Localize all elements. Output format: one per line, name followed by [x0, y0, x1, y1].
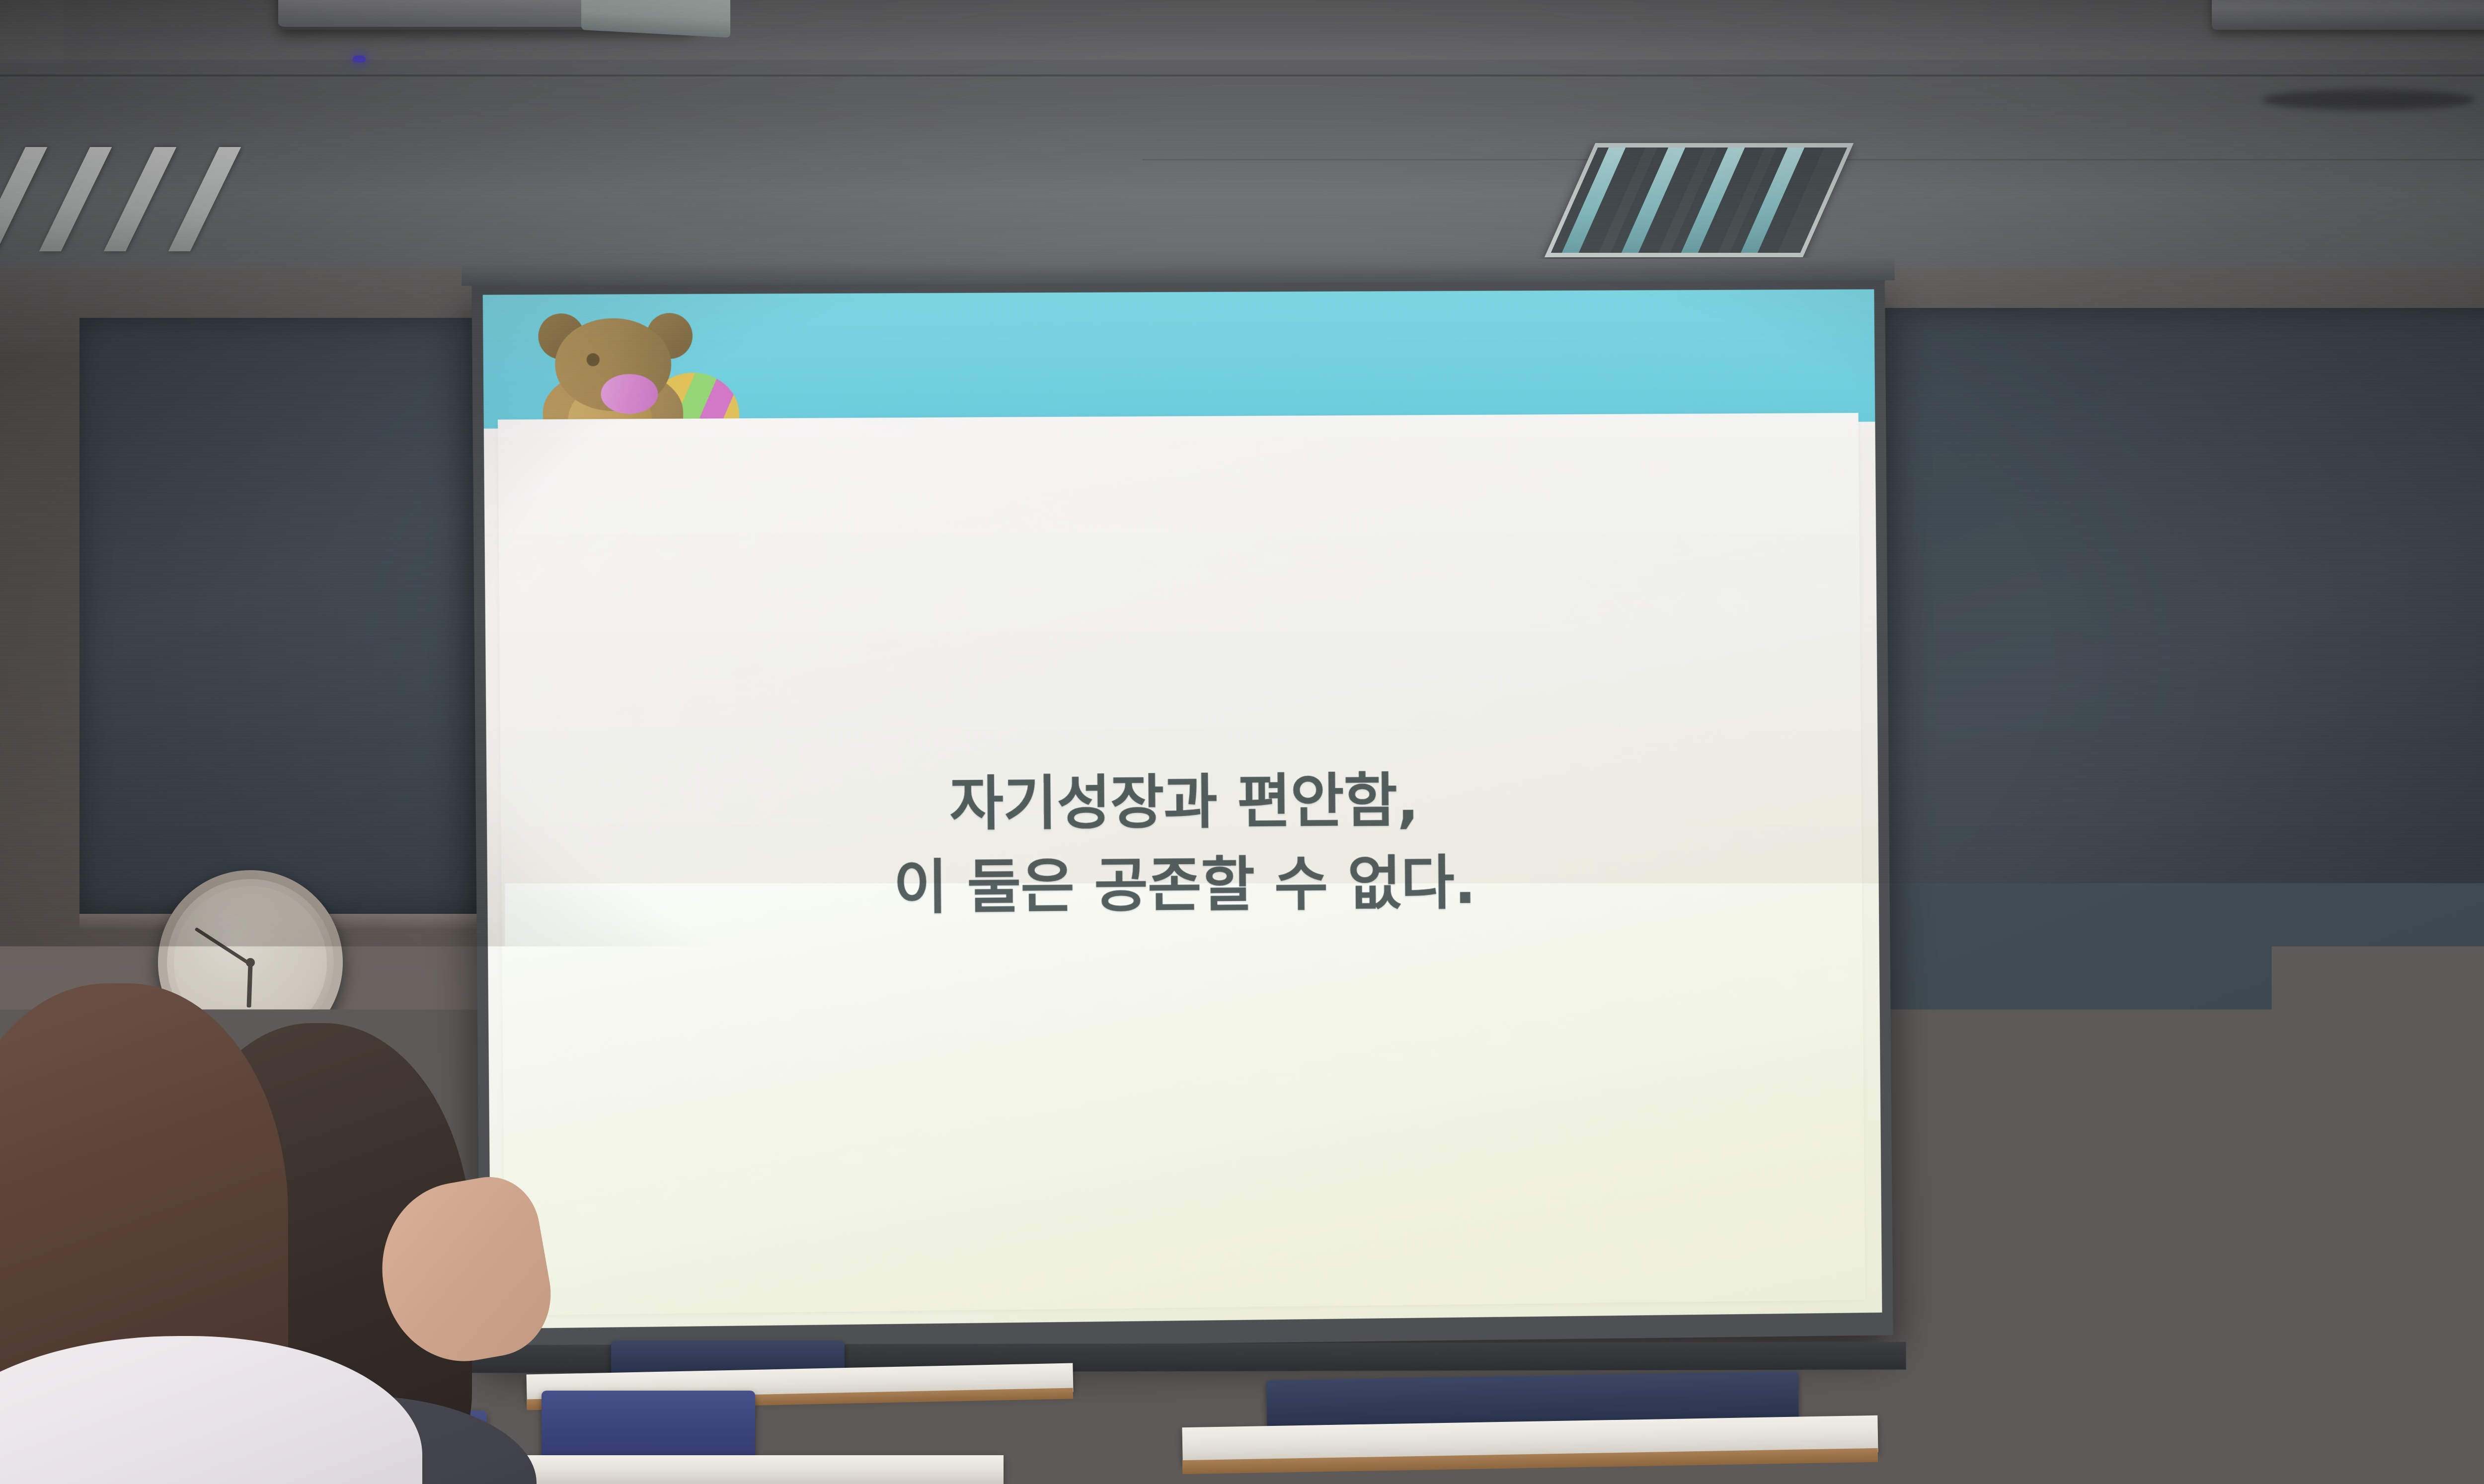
bottle-cap: [2252, 1410, 2280, 1430]
ceiling: [0, 0, 2484, 278]
projection-screen: 자기성장과 편안함, 이 둘은 공존할 수 없다.: [471, 280, 1893, 1351]
chalkboard-left: [79, 318, 482, 914]
projector-status-led: [353, 56, 366, 63]
clock-center-pin: [246, 958, 255, 967]
slide-content-panel: 자기성장과 편안함, 이 둘은 공존할 수 없다.: [498, 413, 1865, 1316]
ceiling-air-vent-icon: [1545, 143, 1854, 257]
clock-hour-hand: [247, 965, 253, 1007]
chalkboard-right: [1838, 308, 2484, 1053]
ceiling-shadow: [2261, 89, 2475, 110]
clock-minute-hand: [194, 927, 251, 966]
ceiling-mount-right: [2212, 0, 2484, 30]
chalkboard-tray: [1838, 1053, 2484, 1068]
lecture-hall-photo: 자기성장과 편안함, 이 둘은 공존할 수 없다.: [0, 0, 2484, 1484]
slide-body-text: 자기성장과 편안함, 이 둘은 공존할 수 없다.: [500, 756, 1862, 933]
presentation-slide: 자기성장과 편안함, 이 둘은 공존할 수 없다.: [483, 289, 1882, 1329]
recessed-light-fixture-icon: [0, 147, 383, 251]
water-bottle: [2243, 1410, 2289, 1484]
ceiling-projector-icon: [278, 0, 696, 30]
bear-eye: [587, 353, 600, 366]
ceiling-seam: [0, 74, 2484, 76]
bear-snout: [601, 374, 658, 414]
